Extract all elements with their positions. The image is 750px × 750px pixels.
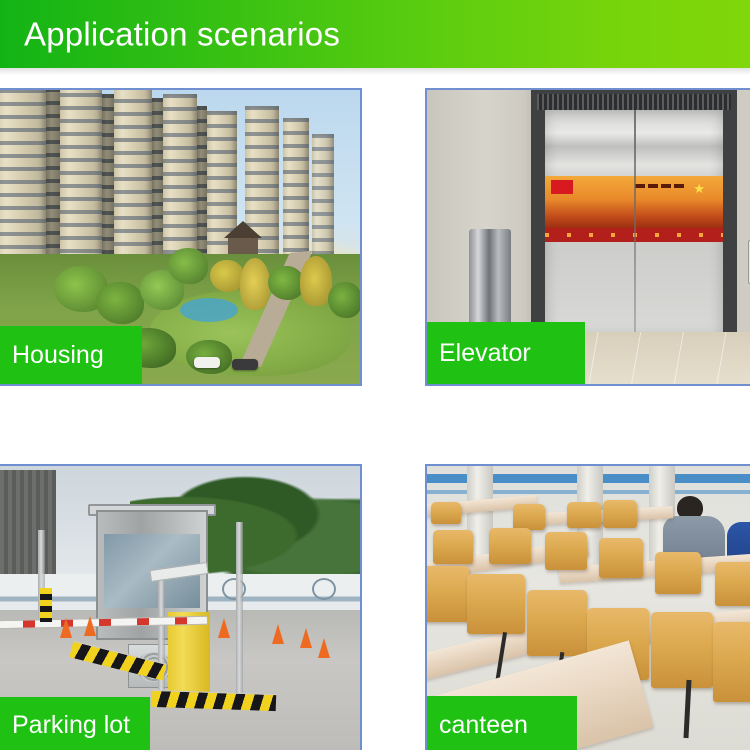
tree (168, 248, 208, 284)
elevator-vent-grille (537, 94, 731, 110)
chair (427, 566, 469, 622)
flag-icon (551, 180, 573, 194)
scenario-card-canteen[interactable]: canteen (425, 464, 750, 750)
tree-autumn (240, 258, 270, 310)
chair (599, 538, 643, 578)
chair (513, 504, 545, 530)
tree (268, 266, 304, 300)
scenario-label-text: Elevator (439, 341, 531, 366)
traffic-cone (318, 638, 330, 658)
chair (467, 574, 525, 634)
elevator-photo: ★ ▲ ▼ Elevator (427, 90, 750, 384)
chair (431, 502, 461, 524)
scenario-label-text: canteen (439, 713, 528, 738)
door-split-line (634, 110, 636, 338)
traffic-cone (300, 628, 312, 648)
chair (489, 528, 531, 564)
chair (715, 562, 750, 606)
trash-bin (469, 229, 511, 324)
scenario-label-housing: Housing (0, 326, 142, 384)
chair (713, 622, 750, 702)
scenario-label-text: Housing (12, 343, 104, 368)
chair (433, 530, 473, 564)
ad-text-lines (635, 184, 687, 188)
chair (603, 500, 637, 528)
star-icon: ★ (693, 182, 705, 195)
elevator-doors: ★ (545, 110, 723, 338)
tree-autumn (210, 260, 244, 292)
chair (655, 552, 701, 594)
header-shadow-divider (0, 68, 750, 75)
traffic-cone (60, 618, 72, 638)
scenario-card-elevator[interactable]: ★ ▲ ▼ Elevator (425, 88, 750, 386)
scenario-label-text: Parking lot (12, 713, 130, 738)
scenario-card-housing[interactable]: Housing (0, 88, 362, 386)
bollard (40, 588, 52, 622)
chair (527, 590, 587, 656)
traffic-cone (84, 616, 96, 636)
background-building (0, 470, 56, 578)
chair (545, 532, 587, 570)
traffic-cone (272, 624, 284, 644)
small-house-roof (224, 221, 262, 238)
tree (328, 282, 360, 318)
traffic-cone (218, 618, 230, 638)
page-title: Application scenarios (24, 18, 340, 51)
scenario-label-parking-lot: Parking lot (0, 697, 150, 750)
canteen-photo: canteen (427, 466, 750, 750)
chair (567, 502, 601, 528)
scenario-label-canteen: canteen (427, 696, 577, 750)
light-pole (236, 522, 243, 708)
wall-logo-icon (312, 578, 336, 600)
scenario-card-parking-lot[interactable]: Parking lot (0, 464, 362, 750)
scenario-label-elevator: Elevator (427, 322, 585, 384)
application-scenarios-page: Application scenarios (0, 0, 750, 750)
car (232, 359, 258, 370)
pond (180, 298, 238, 322)
page-header: Application scenarios (0, 0, 750, 68)
chair (651, 612, 713, 688)
parking-lot-photo: Parking lot (0, 466, 360, 750)
car (194, 357, 220, 368)
housing-photo: Housing (0, 90, 360, 384)
tree (96, 282, 144, 324)
